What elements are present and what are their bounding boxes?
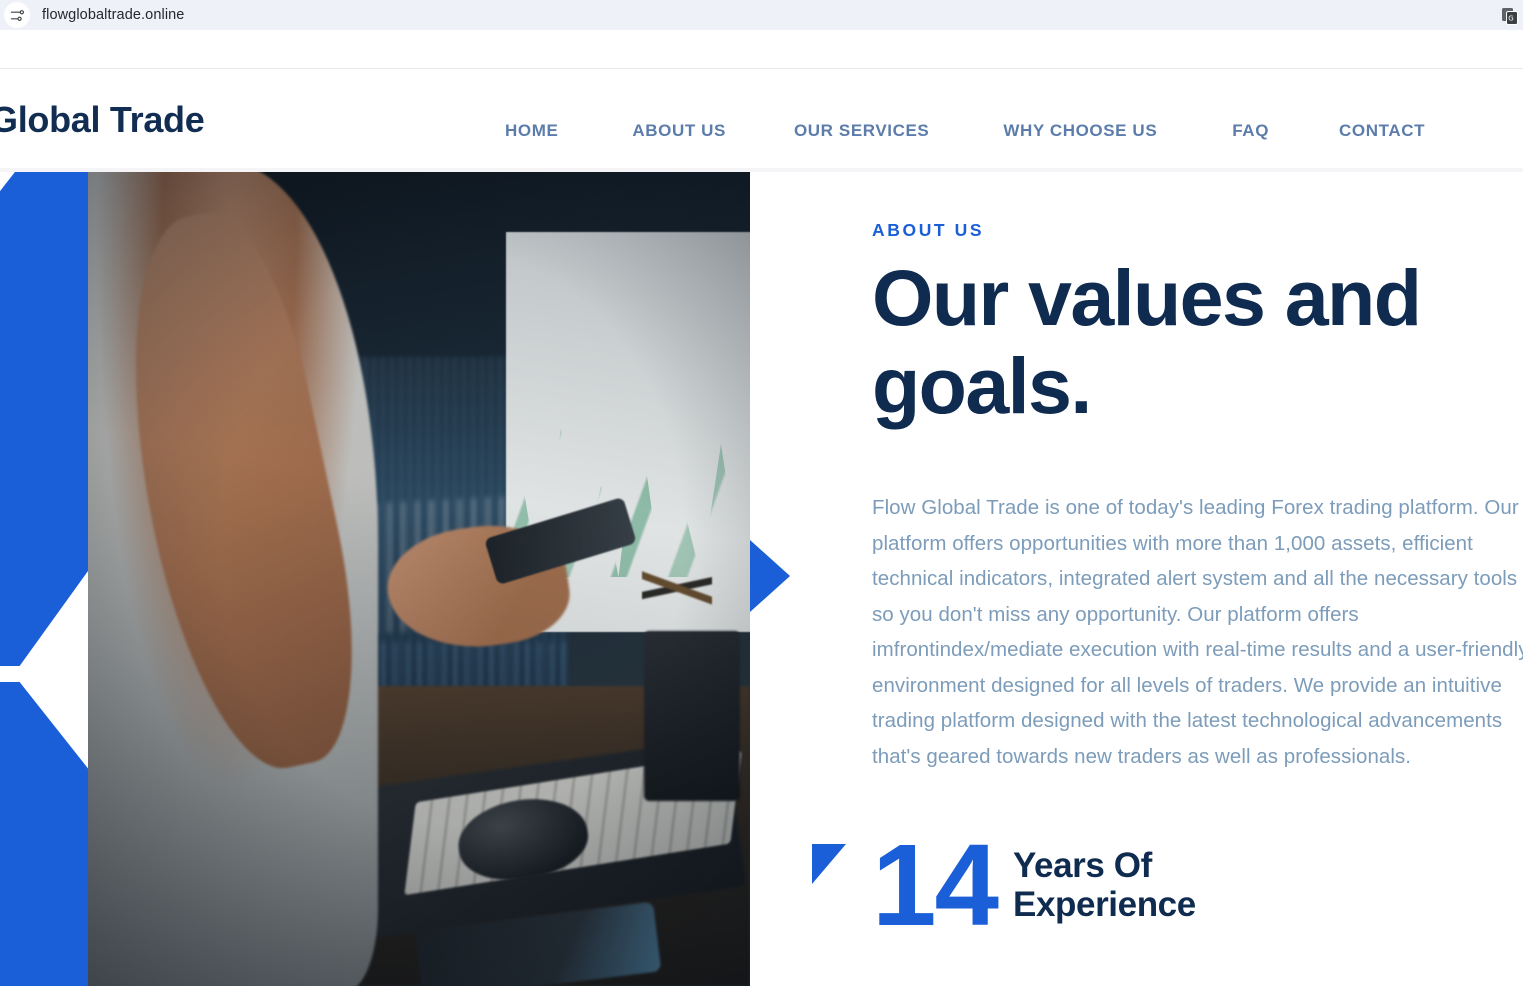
nav-item-home[interactable]: HOME bbox=[505, 121, 558, 141]
section-eyebrow: ABOUT US bbox=[872, 220, 984, 241]
trader-photo bbox=[88, 172, 750, 986]
nav-item-why-choose-us[interactable]: WHY CHOOSE US bbox=[1003, 121, 1157, 141]
main-navigation: HOME ABOUT US OUR SERVICES WHY CHOOSE US… bbox=[505, 121, 1425, 141]
about-section: ABOUT US Our values and goals. Flow Glob… bbox=[0, 172, 1523, 986]
site-logo[interactable]: Global Trade bbox=[0, 99, 204, 141]
extension-icon[interactable]: G bbox=[1497, 2, 1523, 28]
experience-label-line2: Experience bbox=[1013, 885, 1196, 924]
about-content-column: ABOUT US Our values and goals. Flow Glob… bbox=[872, 172, 1523, 986]
nav-item-faq[interactable]: FAQ bbox=[1232, 121, 1269, 141]
about-paragraph: Flow Global Trade is one of today's lead… bbox=[872, 490, 1523, 774]
arrow-right-icon bbox=[750, 540, 790, 612]
nav-item-contact[interactable]: CONTACT bbox=[1339, 121, 1425, 141]
experience-stat: 14 Years Of Experience bbox=[812, 832, 1196, 939]
url-text: flowglobaltrade.online bbox=[42, 7, 184, 23]
browser-url-bar[interactable]: flowglobaltrade.online G bbox=[0, 0, 1523, 30]
experience-years-number: 14 bbox=[872, 832, 997, 939]
site-header: Global Trade HOME ABOUT US OUR SERVICES … bbox=[0, 68, 1523, 170]
photo-vignette bbox=[88, 172, 750, 986]
experience-label-line1: Years Of bbox=[1013, 846, 1152, 885]
nav-item-about-us[interactable]: ABOUT US bbox=[632, 121, 726, 141]
experience-years-label: Years Of Experience bbox=[1013, 846, 1196, 924]
page-viewport: Global Trade HOME ABOUT US OUR SERVICES … bbox=[0, 30, 1523, 986]
tune-icon[interactable] bbox=[4, 2, 30, 28]
about-visual-column bbox=[0, 172, 790, 986]
nav-item-our-services[interactable]: OUR SERVICES bbox=[794, 121, 929, 141]
page-title: Our values and goals. bbox=[872, 254, 1492, 431]
url-chip[interactable]: flowglobaltrade.online bbox=[4, 0, 184, 30]
svg-text:G: G bbox=[1508, 14, 1513, 22]
triangle-wedge-icon bbox=[812, 844, 846, 884]
